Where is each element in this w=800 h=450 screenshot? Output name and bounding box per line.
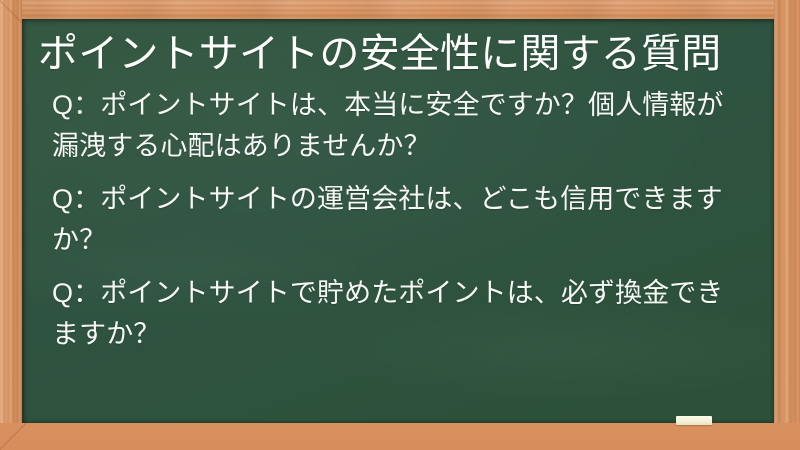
question-item: Q：ポイントサイトの運営会社は、どこも信用できますか？ bbox=[52, 179, 734, 261]
frame-rail-right bbox=[774, 0, 800, 450]
frame-rail-left bbox=[0, 0, 22, 450]
question-item: Q：ポイントサイトで貯めたポイントは、必ず換金できますか？ bbox=[52, 273, 734, 355]
frame-ledge-bottom bbox=[0, 423, 800, 450]
chalkboard-surface: ポイントサイトの安全性に関する質問 Q：ポイントサイトは、本当に安全ですか？個人… bbox=[22, 19, 774, 423]
board-title: ポイントサイトの安全性に関する質問 bbox=[30, 30, 734, 79]
chalkboard-slide: ポイントサイトの安全性に関する質問 Q：ポイントサイトは、本当に安全ですか？個人… bbox=[0, 0, 800, 450]
question-item: Q：ポイントサイトは、本当に安全ですか？個人情報が漏洩する心配はありませんか？ bbox=[52, 85, 734, 167]
frame-rail-top bbox=[0, 0, 800, 19]
question-list: Q：ポイントサイトは、本当に安全ですか？個人情報が漏洩する心配はありませんか？ … bbox=[30, 85, 734, 355]
chalk-stick bbox=[676, 416, 712, 425]
